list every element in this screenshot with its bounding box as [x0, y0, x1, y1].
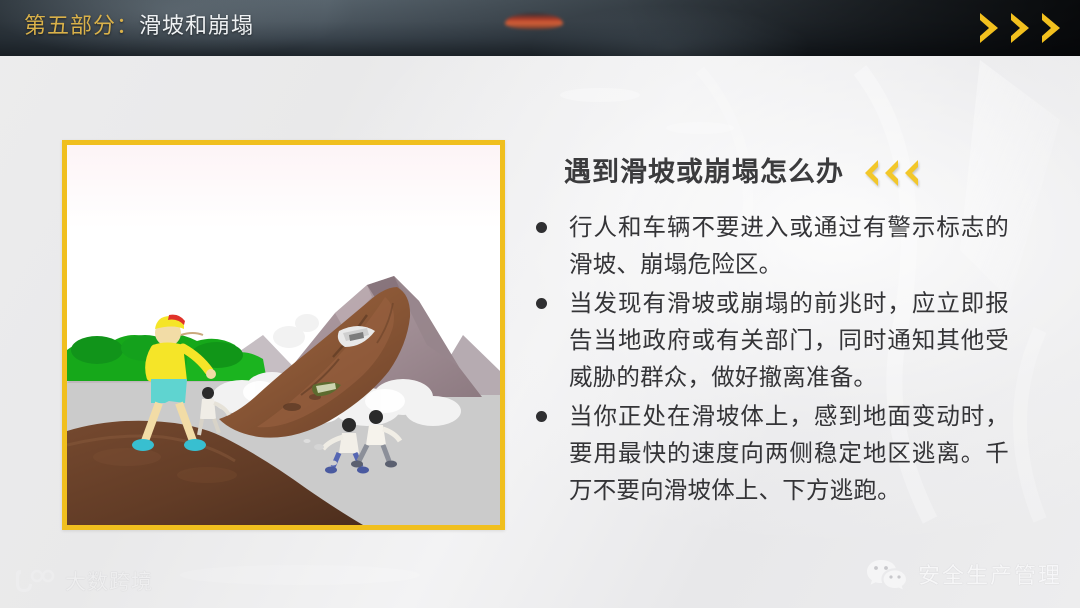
chevrons-right-icon — [976, 11, 1068, 45]
content-column: 遇到滑坡或崩塌怎么办 行人和车辆不要进入或通过有警示标志的滑坡、崩塌危险区。 — [528, 150, 1028, 511]
header-title: 第五部分：滑坡和崩塌 — [24, 11, 254, 41]
presentation-slide: 第五部分：滑坡和崩塌 — [0, 0, 1080, 608]
bullet-text: 当发现有滑坡或崩塌的前兆时，应立即报告当地政府或有关部门，同时通知其他受威胁的群… — [569, 285, 1009, 396]
guidance-bullet-list: 行人和车辆不要进入或通过有警示标志的滑坡、崩塌危险区。 当发现有滑坡或崩塌的前兆… — [528, 209, 1028, 509]
bullet-dot-icon — [536, 298, 547, 309]
bullet-text: 行人和车辆不要进入或通过有警示标志的滑坡、崩塌危险区。 — [569, 209, 1009, 283]
bullet-text: 当你正处在滑坡体上，感到地面变动时，要用最快的速度向两侧稳定地区逃离。千万不要向… — [569, 398, 1009, 509]
header-section-topic: 滑坡和崩塌 — [139, 13, 254, 38]
chevron-right-icon-2 — [1007, 11, 1037, 45]
landslide-illustration-svg — [67, 145, 500, 525]
watermark-left-text: 大数跨境 — [65, 566, 153, 596]
header-photo-highlight — [505, 13, 563, 29]
list-item: 行人和车辆不要进入或通过有警示标志的滑坡、崩塌危险区。 — [528, 209, 1028, 283]
dashu-kuajing-logo-icon — [12, 568, 56, 594]
chevron-left-icon-2 — [882, 158, 902, 188]
chevron-right-icon-3 — [1038, 11, 1068, 45]
list-item: 当你正处在滑坡体上，感到地面变动时，要用最快的速度向两侧稳定地区逃离。千万不要向… — [528, 398, 1028, 509]
chevrons-left-icon — [862, 158, 922, 188]
content-title: 遇到滑坡或崩塌怎么办 — [564, 150, 844, 189]
watermark-right-text: 安全生产管理 — [918, 558, 1062, 590]
slide-header-bar: 第五部分：滑坡和崩塌 — [0, 0, 1080, 56]
bullet-dot-icon — [536, 411, 547, 422]
watermark-left: 大数跨境 — [12, 566, 153, 596]
header-section-label: 第五部分： — [24, 13, 139, 38]
list-item: 当发现有滑坡或崩塌的前兆时，应立即报告当地政府或有关部门，同时通知其他受威胁的群… — [528, 285, 1028, 396]
watermark-right: 安全生产管理 — [866, 558, 1062, 590]
wechat-icon — [866, 558, 906, 590]
chevron-left-icon-3 — [902, 158, 922, 188]
chevron-left-icon-1 — [862, 158, 882, 188]
content-title-row: 遇到滑坡或崩塌怎么办 — [528, 150, 1028, 189]
bullet-dot-icon — [536, 222, 547, 233]
chevron-right-icon-1 — [976, 11, 1006, 45]
landslide-illustration — [62, 140, 505, 530]
